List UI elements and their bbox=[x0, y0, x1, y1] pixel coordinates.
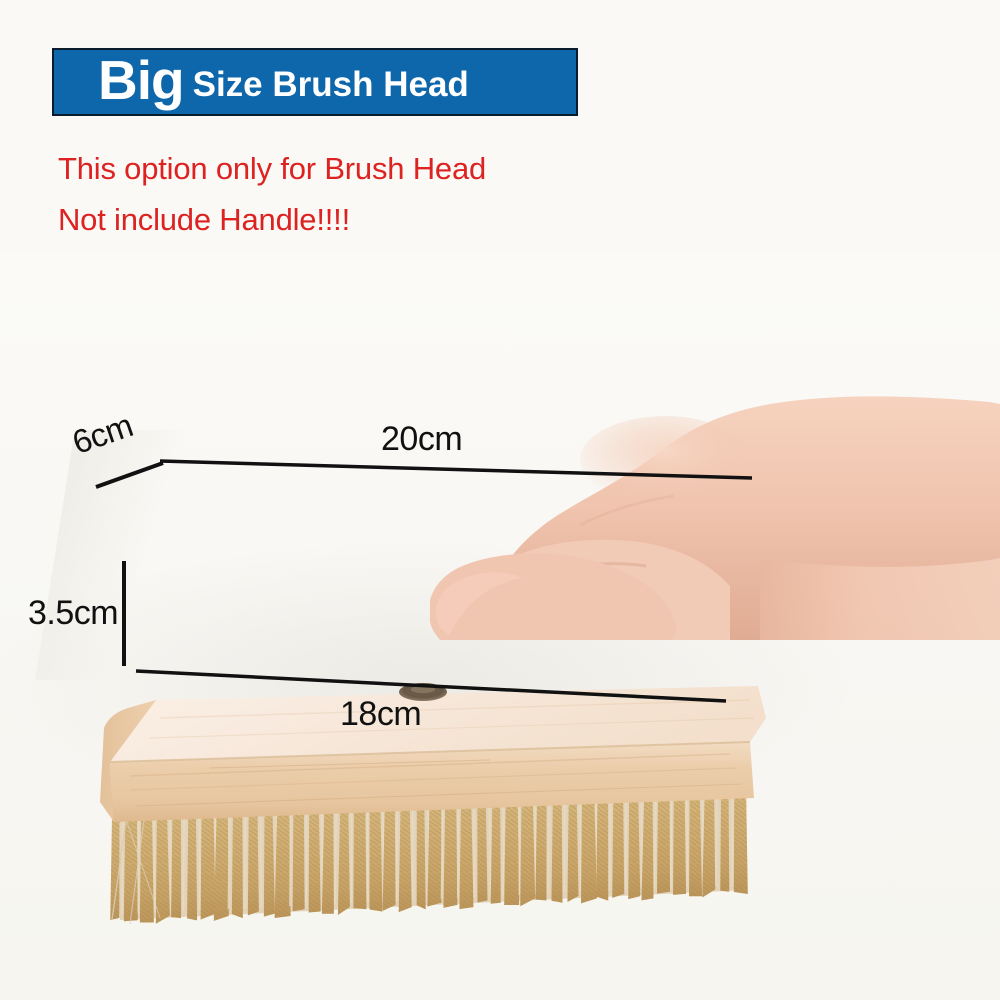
dimension-label-bristle-width: 18cm bbox=[340, 695, 421, 734]
product-image-canvas: Big Size Brush Head This option only for… bbox=[0, 0, 1000, 1000]
product-photo bbox=[0, 250, 1000, 1000]
banner-emphasis-word: Big bbox=[98, 53, 184, 108]
dimension-label-bristle-height: 3.5cm bbox=[28, 594, 118, 633]
title-banner: Big Size Brush Head bbox=[52, 48, 578, 116]
notice-line-1: This option only for Brush Head bbox=[58, 151, 486, 187]
wrist bbox=[760, 556, 1000, 640]
dimension-label-length: 20cm bbox=[381, 420, 462, 459]
notice-line-2: Not include Handle!!!! bbox=[58, 202, 350, 238]
wire-brush bbox=[90, 450, 770, 940]
banner-rest-text: Size Brush Head bbox=[193, 67, 469, 102]
wood-block bbox=[100, 683, 766, 822]
